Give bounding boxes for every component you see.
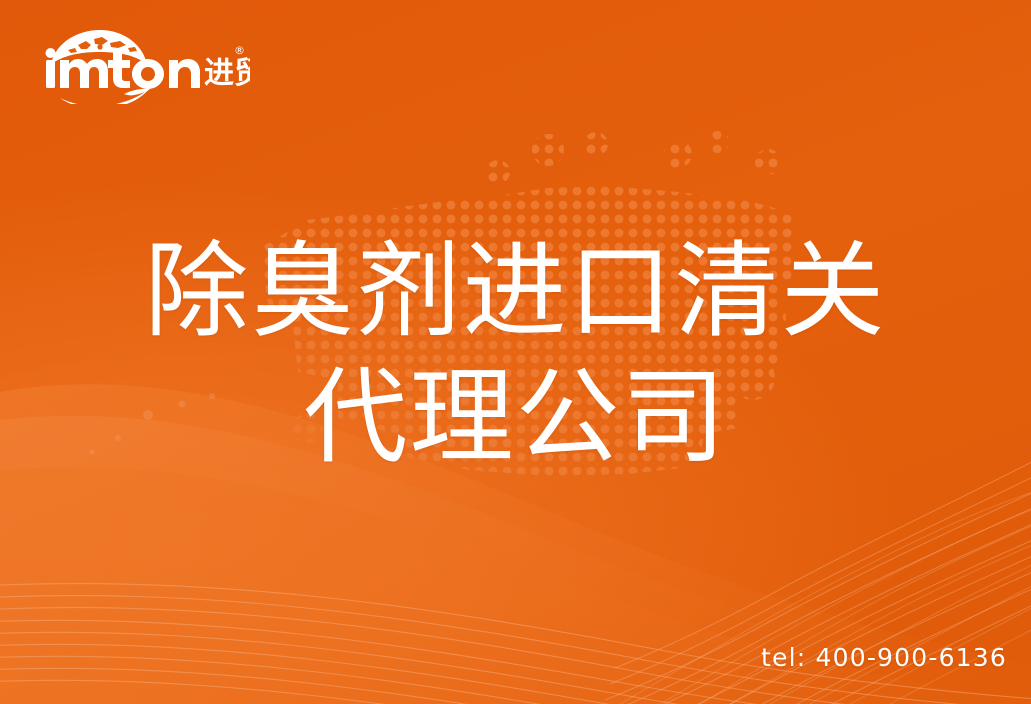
page-title: 除臭剂进口清关 代理公司 (0, 228, 1031, 480)
trademark-icon: ® (234, 44, 245, 57)
promo-banner: 进贸通 ® imton 进贸通 除臭剂进口清关 代理公司 tel: 400-90… (0, 0, 1031, 704)
brand-logo[interactable]: 进贸通 ® imton 进贸通 (38, 26, 250, 104)
page-title-line-1: 除臭剂进口清关 (0, 228, 1031, 354)
page-title-line-2: 代理公司 (0, 354, 1031, 480)
brand-chinese-text: 进贸通 (204, 56, 250, 91)
globe-arc-icon (51, 30, 147, 64)
contact-phone[interactable]: tel: 400-900-6136 (761, 643, 1007, 672)
